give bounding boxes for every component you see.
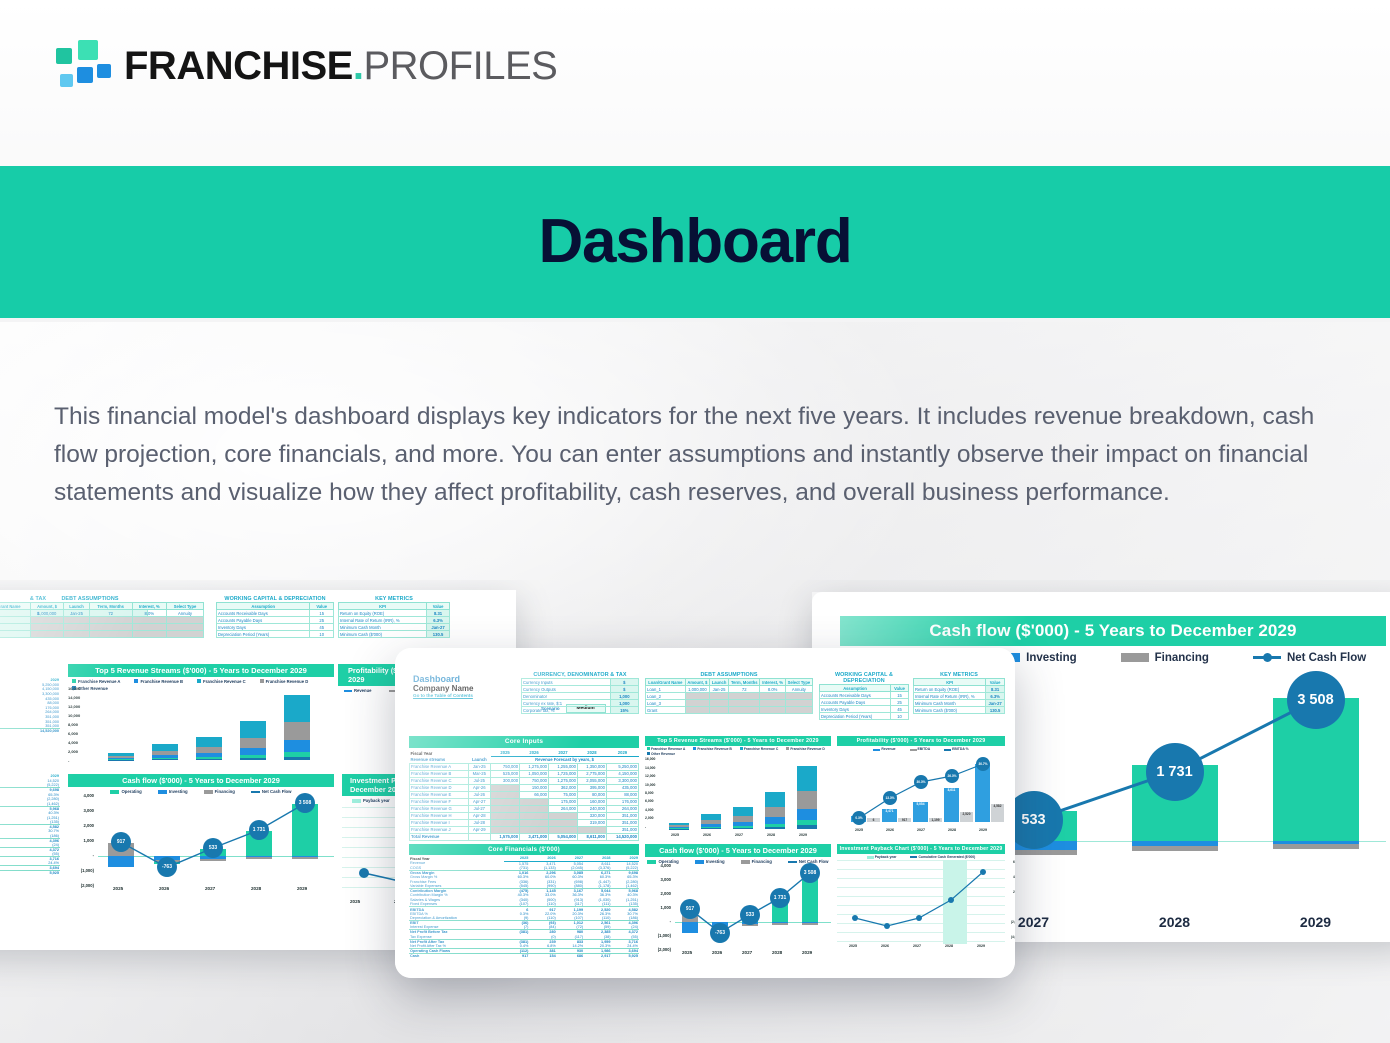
cell-label: Accounts Receivable Days — [217, 610, 310, 617]
legend-label-financing: Financing — [1155, 652, 1209, 664]
stream-launch[interactable]: Jul-28 — [468, 819, 491, 826]
legend-item: Franchise Revenue A — [647, 747, 685, 751]
table-row: Net Profit Before Tax(381)2809802,3854,3… — [409, 930, 639, 935]
core-inputs-table: Fiscal Year20252026202720282029Revenue s… — [409, 750, 639, 841]
table-row: Minimum Cash ($'000)130.5 — [914, 707, 1005, 714]
stacked-bar-segment — [765, 807, 785, 817]
column-header: Value — [986, 679, 1005, 686]
center-dashboard-card: DashboardCompany NameGo to the Table of … — [395, 648, 1015, 978]
stream-name: Franchise Revenue C — [410, 777, 469, 784]
cell[interactable] — [728, 707, 760, 714]
cell-label: Accounts Payable Days — [820, 699, 891, 706]
y-axis-tick: 6,000 — [1013, 860, 1015, 864]
brand-name-bold: FRANCHISE — [124, 44, 353, 88]
table-row: Franchise Revenue IJul-28319,000351,000 — [410, 819, 639, 826]
cell-label: Minimum Cash ($'000) — [339, 631, 427, 638]
x-axis-label: 2029 — [297, 886, 307, 891]
total-value: 14,520,000 — [606, 833, 638, 840]
total-value: 8,611,000 — [577, 833, 606, 840]
stream-value[interactable] — [520, 812, 549, 819]
stacked-bar-segment — [240, 721, 266, 737]
page-header: FRANCHISE.PROFILES — [0, 0, 1390, 160]
y-axis-tick: 2,000 — [645, 816, 654, 820]
stream-value[interactable]: 66,000 — [520, 791, 549, 798]
stream-value[interactable]: 4,150,000 — [606, 770, 638, 777]
stream-launch[interactable]: Jul-26 — [468, 791, 491, 798]
cell-label: Denominator — [522, 693, 611, 700]
working-capital-table: AssumptionValueAccounts Receivable Days1… — [216, 602, 334, 638]
cell[interactable]: Annuity — [167, 610, 204, 617]
stream-value[interactable]: 3,300,000 — [606, 777, 638, 784]
cell[interactable] — [167, 617, 204, 624]
stream-value[interactable]: 160,000 — [577, 798, 606, 805]
cell[interactable]: Grant — [646, 707, 686, 714]
cell-label: Currency ex rate, $:1 — [522, 700, 611, 707]
stream-launch[interactable]: Apr-28 — [468, 812, 491, 819]
stacked-bar-segment — [284, 757, 310, 760]
cell-label: Minimum Cash ($'000) — [914, 707, 986, 714]
stream-value[interactable]: 75,000 — [549, 791, 578, 798]
cell[interactable] — [760, 693, 785, 700]
cell-value[interactable]: 15 — [891, 692, 909, 699]
y-axis-tick: - — [68, 758, 69, 763]
table-row: Grant — [646, 707, 813, 714]
cell[interactable] — [64, 624, 89, 631]
stacked-bar-segment — [797, 791, 817, 808]
cell[interactable] — [760, 707, 785, 714]
left-clipped-financials: 20295,250,0004,150,0003,300,000435,00088… — [0, 678, 60, 733]
stream-value[interactable]: 750,000 — [520, 777, 549, 784]
data-label-bubble: 3 508 — [800, 863, 820, 883]
cell[interactable] — [728, 693, 760, 700]
table-row: Accounts Payable Days25 — [217, 617, 334, 624]
legend-item-net-cash-flow: Net Cash Flow — [1253, 652, 1366, 664]
stacked-bar-segment — [765, 792, 785, 807]
cell[interactable] — [30, 617, 63, 624]
x-axis-label: 2025 — [350, 899, 360, 904]
cell[interactable] — [64, 631, 89, 638]
x-axis-label: 2029 — [802, 950, 812, 955]
x-axis-label: 2027 — [917, 828, 925, 832]
column-header: Assumption — [820, 685, 891, 692]
cell[interactable]: Loan_3 — [0, 624, 30, 631]
column-header: Assumption — [217, 603, 310, 610]
x-axis-label: 2027 — [742, 950, 752, 955]
x-axis-label: 2025 — [113, 886, 123, 891]
x-axis-label: 2025 — [849, 944, 857, 948]
logo-square-4 — [77, 67, 93, 83]
cell[interactable]: Annuity — [785, 686, 812, 693]
column-header: Value — [310, 603, 334, 610]
working-capital-block: WORKING CAPITAL & DEPRECIATIONAssumption… — [819, 672, 909, 720]
cell-label: Inventory Days — [217, 624, 310, 631]
column-header: Amount, $ — [685, 679, 710, 686]
table-row: Depreciation Period (Years)10 — [217, 631, 334, 638]
stream-value[interactable]: 1,255,000 — [549, 763, 578, 770]
column-header: KPI — [339, 603, 427, 610]
cell[interactable] — [685, 700, 710, 707]
stacked-bar-segment — [196, 737, 222, 747]
column-header: Launch — [64, 603, 89, 610]
legend-label-net-cash-flow: Net Cash Flow — [1287, 652, 1366, 664]
cell-label: Accounts Receivable Days — [820, 692, 891, 699]
stream-value[interactable]: 300,000 — [491, 777, 520, 784]
wc-title: WORKING CAPITAL & DEPRECIATION — [819, 672, 909, 684]
table-header-row: KPIValue — [914, 679, 1005, 686]
table-row: 5,925 — [0, 871, 60, 876]
cell[interactable]: Loan_2 — [646, 693, 686, 700]
cell-value: Jan-27 — [986, 700, 1005, 707]
cell-value[interactable]: 1,000 — [610, 700, 638, 707]
cell[interactable] — [132, 624, 166, 631]
cell[interactable]: Jan-25 — [64, 610, 89, 617]
cell-value: 130.5 — [986, 707, 1005, 714]
stacked-bar-segment — [240, 758, 266, 760]
top-revenue-legend: Franchise Revenue AFranchise Revenue BFr… — [645, 746, 831, 757]
y-axis-tick: 8,000 — [645, 791, 654, 795]
legend-item: Investing — [695, 859, 725, 864]
stream-value[interactable] — [577, 826, 606, 833]
stream-value[interactable]: 1,275,000 — [520, 763, 549, 770]
stream-value[interactable]: 264,000 — [606, 805, 638, 812]
table-row: Net Profit After Tax %0.4%6.8%14.2%20.3%… — [409, 944, 639, 949]
logo-square-5 — [97, 64, 111, 78]
stacked-bar-segment — [701, 828, 721, 829]
cell-value[interactable]: 45 — [891, 706, 909, 713]
legend-item: Net Cash Flow — [251, 789, 292, 794]
cell[interactable] — [785, 700, 812, 707]
debt-table: Loan/Grant NameAmount, $LaunchTerm, Mont… — [0, 602, 204, 638]
stream-launch[interactable]: Mar-25 — [468, 770, 491, 777]
core-financials-clipped-table: 202914,520(5,222)9,69865.3%(2,280)(1,462… — [0, 774, 60, 875]
legend-item: Revenue — [873, 747, 895, 751]
y-axis-tick: 2,000 — [68, 749, 78, 754]
total-value: 1,575,000 — [491, 833, 520, 840]
cell[interactable]: 1,000,000 — [30, 610, 63, 617]
cell-value[interactable]: 25 — [310, 617, 334, 624]
net-cash-flow-line — [68, 796, 334, 886]
legend-item: Payback year — [867, 855, 897, 859]
y-axis-tick: 4,000 — [68, 740, 78, 745]
stream-value[interactable]: 5,250,000 — [606, 763, 638, 770]
cell[interactable] — [30, 631, 63, 638]
cell[interactable] — [30, 624, 63, 631]
cell[interactable] — [132, 631, 166, 638]
legend-label-investing: Investing — [1026, 652, 1076, 664]
profitability-plot: 1,5753,4715,0548,61114,52069171,1992,520… — [837, 752, 1005, 828]
data-label-bubble: -763 — [710, 923, 730, 943]
data-label-bubble: 1 731 — [249, 820, 269, 840]
left-clipped-core-financials: 202914,520(5,222)9,69865.3%(2,280)(1,462… — [0, 774, 60, 875]
cell[interactable] — [685, 693, 710, 700]
y-axis-tick: 6,000 — [645, 799, 654, 803]
center-card-subtitle: Company Name — [413, 684, 473, 693]
cell[interactable] — [167, 624, 204, 631]
stream-value[interactable]: 1,050,000 — [520, 770, 549, 777]
stream-value[interactable] — [491, 826, 520, 833]
table-row: Accounts Payable Days25 — [820, 699, 909, 706]
core-financials-table: Fiscal Year20252026202720282029Revenue1,… — [409, 856, 639, 957]
currency-block: CURRENCY, DENOMINATOR & TAXCurrency Inpu… — [521, 672, 639, 714]
cell[interactable]: Jan-25 — [710, 686, 729, 693]
debt-table: Loan/Grant NameAmount, $LaunchTerm, Mont… — [645, 678, 813, 714]
brand-name-light: PROFILES — [363, 44, 557, 88]
cell-value[interactable]: 15% — [610, 707, 638, 714]
cashflow-mini-title: Cash flow ($'000) - 5 Years to December … — [68, 774, 334, 787]
table-row: Franchise Revenue CJul-25300,000750,0001… — [410, 777, 639, 784]
y-axis-tick: 14,000 — [645, 766, 655, 770]
cell-total: 14,520,000 — [0, 729, 60, 734]
stream-value[interactable]: 1,275,000 — [549, 777, 578, 784]
legend-item: Franchise Revenue C — [740, 747, 778, 751]
stream-value[interactable] — [549, 826, 578, 833]
cell-label: Accounts Payable Days — [217, 617, 310, 624]
x-axis-label: 2029 — [979, 828, 987, 832]
table-row: Loan_2 — [646, 693, 813, 700]
stacked-bar-segment — [765, 827, 785, 830]
x-axis-label: 2026 — [886, 828, 894, 832]
cell-label: Depreciation Period (Years) — [217, 631, 310, 638]
cell[interactable]: 8.0% — [132, 610, 166, 617]
legend-item: Franchise Revenue D — [786, 747, 824, 751]
column-header: Interest, % — [132, 603, 166, 610]
table-row: Franchise Revenue GJul-27264,000240,0002… — [410, 805, 639, 812]
x-axis-label: 2025 — [671, 833, 679, 837]
column-header: Value — [427, 603, 450, 610]
stream-value[interactable]: 176,000 — [606, 798, 638, 805]
y-axis-tick: 16,000 — [68, 686, 80, 691]
stream-value[interactable] — [520, 798, 549, 805]
stream-value[interactable]: 88,000 — [606, 791, 638, 798]
stream-launch[interactable]: Jul-27 — [468, 805, 491, 812]
stream-value[interactable]: 351,000 — [606, 812, 638, 819]
table-row: Accounts Receivable Days15 — [820, 692, 909, 699]
cell[interactable]: 1,000,000 — [685, 686, 710, 693]
stacked-bar-segment — [284, 740, 310, 752]
cell-value: 686 — [557, 953, 584, 958]
stream-value[interactable]: 1,725,000 — [549, 770, 578, 777]
stream-value[interactable] — [491, 805, 520, 812]
core-financials-title: Core Financials ($'000) — [409, 844, 639, 855]
clipped-financials-table: 20295,250,0004,150,0003,300,000435,00088… — [0, 678, 60, 733]
x-axis-label: 2028 — [251, 886, 261, 891]
stream-value[interactable]: 175,000 — [549, 798, 578, 805]
table-header-row: AssumptionValue — [217, 603, 334, 610]
x-axis-label: 2026 — [703, 833, 711, 837]
core-inputs-title: Core Inputs — [409, 736, 639, 748]
stream-name: Franchise Revenue F — [410, 798, 469, 805]
table-row: Currency Inputs$ — [522, 679, 639, 686]
stream-launch[interactable]: Apr-29 — [468, 826, 491, 833]
title-band: Dashboard — [0, 166, 1390, 318]
cell-value[interactable]: 45 — [310, 624, 334, 631]
cell[interactable] — [89, 624, 132, 631]
cell-value[interactable]: $ — [610, 679, 638, 686]
table-row: Operating Cash Flows(112)3819301,9863,69… — [409, 948, 639, 953]
y-axis-tick: 12,000 — [68, 704, 80, 709]
stream-value[interactable]: 240,000 — [577, 805, 606, 812]
legend-item: Other Revenue — [647, 752, 675, 756]
key-metrics-table: KPIValueReturn on Equity (ROE)8.31Intern… — [338, 602, 450, 638]
table-of-contents-link[interactable]: Go to the Table of Contents — [413, 693, 473, 698]
column-header: Amount, $ — [30, 603, 63, 610]
logo-squares-icon — [56, 40, 108, 92]
cumulative-cash-line — [837, 860, 1005, 944]
legend-item: Operating — [110, 789, 141, 794]
cell-value[interactable]: $ — [610, 686, 638, 693]
stream-value[interactable] — [549, 819, 578, 826]
stream-value[interactable] — [549, 812, 578, 819]
stream-value[interactable]: 395,000 — [577, 784, 606, 791]
stream-value[interactable] — [520, 826, 549, 833]
stream-launch[interactable]: Apr-27 — [468, 798, 491, 805]
stream-name: Franchise Revenue A — [410, 763, 469, 770]
table-total-row: 14,520,000 — [0, 729, 60, 734]
cell[interactable]: Loan_1 — [646, 686, 686, 693]
x-axis-label: 2027 — [205, 886, 215, 891]
cell[interactable]: 72 — [89, 610, 132, 617]
cell[interactable] — [785, 707, 812, 714]
stream-value[interactable]: 320,000 — [577, 812, 606, 819]
stacked-bar-segment — [765, 817, 785, 824]
currency-table: Currency Inputs$Currency Outputs$Denomin… — [521, 678, 639, 714]
table-row: Return on Equity (ROE)8.31 — [339, 610, 450, 617]
x-axis-label: 2025 — [682, 950, 692, 955]
cell[interactable] — [167, 631, 204, 638]
stream-value[interactable]: 80,000 — [577, 791, 606, 798]
stream-launch[interactable]: Jan-25 — [468, 763, 491, 770]
stream-name: Franchise Revenue G — [410, 805, 469, 812]
y-axis-tick: (4,000) — [1011, 935, 1015, 939]
stream-value[interactable] — [491, 819, 520, 826]
cell-value[interactable]: 15 — [310, 610, 334, 617]
table-row: Loan_11,000,000Jan-25728.0%Annuity — [646, 686, 813, 693]
stream-value[interactable]: 525,000 — [491, 770, 520, 777]
cell[interactable] — [132, 617, 166, 624]
page-description: This financial model's dashboard display… — [54, 398, 1344, 512]
table-row: Franchise Revenue BMar-25525,0001,050,00… — [410, 770, 639, 777]
cell[interactable]: 8.0% — [760, 686, 785, 693]
launch-header: Launch — [468, 756, 491, 763]
y-axis-tick: (2,000) — [1011, 920, 1015, 924]
table-row: Loan_3 — [0, 624, 204, 631]
streams-header: Revenue streams — [410, 756, 469, 763]
cell-label: Corporate tax, % — [522, 707, 611, 714]
stream-value[interactable]: 2,775,000 — [577, 770, 606, 777]
stream-value[interactable] — [520, 805, 549, 812]
stream-value[interactable]: 2,055,000 — [577, 777, 606, 784]
stream-launch[interactable]: Jul-25 — [468, 777, 491, 784]
stream-value[interactable]: 264,000 — [549, 805, 578, 812]
cell[interactable] — [89, 631, 132, 638]
stream-value[interactable]: 750,000 — [491, 763, 520, 770]
stream-value[interactable]: 435,000 — [606, 784, 638, 791]
cell-label: Currency Inputs — [522, 679, 611, 686]
x-axis-label: 2027 — [913, 944, 921, 948]
cell[interactable] — [685, 707, 710, 714]
stream-value[interactable] — [491, 812, 520, 819]
stream-value[interactable] — [491, 791, 520, 798]
cashflow-mini-title: Cash flow ($'000) - 5 Years to December … — [645, 844, 831, 857]
stream-value[interactable] — [520, 819, 549, 826]
cell[interactable]: 72 — [728, 686, 760, 693]
cell[interactable] — [710, 700, 729, 707]
screenshot-collage: & TAX$$1,0001,00015%DEBT ASSUMPTIONSLoan… — [0, 580, 1390, 1043]
left-panel-kpi-table: KEY METRICSKPIValueReturn on Equity (ROE… — [338, 596, 450, 638]
stacked-bar-segment — [733, 807, 753, 816]
cell-value: 5,925 — [0, 871, 60, 876]
cell-value[interactable]: 1,000 — [610, 693, 638, 700]
center-card-header: DashboardCompany NameGo to the Table of … — [413, 674, 473, 698]
legend-item: EBITDA % — [944, 747, 968, 751]
total-label: Total Revenue — [410, 833, 469, 840]
cell[interactable]: Grant — [0, 631, 30, 638]
stream-value[interactable]: 319,000 — [577, 819, 606, 826]
table-row: Franchise Revenue DApr-26150,000362,0003… — [410, 784, 639, 791]
cell[interactable] — [785, 693, 812, 700]
table-row: Denominator1,000 — [522, 693, 639, 700]
x-axis-label: 2029 — [1276, 914, 1356, 930]
table-row: Inventory Days45 — [217, 624, 334, 631]
core-inputs-block: Core InputsFiscal Year202520262027202820… — [409, 736, 639, 841]
key-metrics-table: KPIValueReturn on Equity (ROE)8.31Intern… — [913, 678, 1005, 714]
table-row: Depreciation & Amortization(9)(110)(107)… — [409, 916, 639, 921]
stream-name: Franchise Revenue H — [410, 812, 469, 819]
table-row: Minimum Cash MonthJan-27 — [914, 700, 1005, 707]
table-row: Loan_3 — [646, 700, 813, 707]
x-axis-label: 2028 — [772, 950, 782, 955]
stream-value[interactable] — [491, 784, 520, 791]
stream-launch[interactable]: Apr-26 — [468, 784, 491, 791]
stream-value[interactable] — [491, 798, 520, 805]
y-axis-tick: 16,000 — [645, 757, 655, 761]
stream-value[interactable]: 362,000 — [549, 784, 578, 791]
legend-item: Investing — [158, 789, 188, 794]
logo-square-3 — [60, 74, 73, 87]
cell[interactable] — [89, 617, 132, 624]
total-value: 3,471,000 — [520, 833, 549, 840]
stream-value[interactable]: 351,000 — [606, 819, 638, 826]
legend-item: Payback year — [352, 798, 390, 803]
stacked-bar-segment — [240, 748, 266, 755]
cell[interactable]: Loan_2 — [0, 617, 30, 624]
cell[interactable]: Loan_1 — [0, 610, 30, 617]
cell-value: 5,925 — [612, 953, 639, 958]
cell-label: Inventory Days — [820, 706, 891, 713]
cell[interactable]: Loan_3 — [646, 700, 686, 707]
cell[interactable] — [64, 617, 89, 624]
stacked-bar-segment — [733, 828, 753, 830]
cell-value[interactable]: 10 — [891, 713, 909, 720]
cell-value[interactable]: 25 — [891, 699, 909, 706]
table-row: Contribution Margin(475)1,1453,1675,0445… — [409, 889, 639, 894]
cell[interactable] — [728, 700, 760, 707]
stream-value[interactable]: 351,000 — [606, 826, 638, 833]
stream-value[interactable]: 150,000 — [520, 784, 549, 791]
stream-name: Franchise Revenue D — [410, 784, 469, 791]
cell[interactable] — [760, 700, 785, 707]
x-axis-label: 2025 — [855, 828, 863, 832]
stacked-bar-segment — [797, 766, 817, 791]
cell[interactable] — [710, 693, 729, 700]
cell[interactable] — [710, 707, 729, 714]
table-row: Currency ex rate, $:11,000 — [522, 700, 639, 707]
cell-value[interactable]: 10 — [310, 631, 334, 638]
legend-item: Franchise Revenue C — [197, 679, 246, 684]
stream-value[interactable]: 1,350,000 — [577, 763, 606, 770]
stacked-bar-segment — [797, 809, 817, 820]
y-axis-tick: 12,000 — [645, 774, 655, 778]
